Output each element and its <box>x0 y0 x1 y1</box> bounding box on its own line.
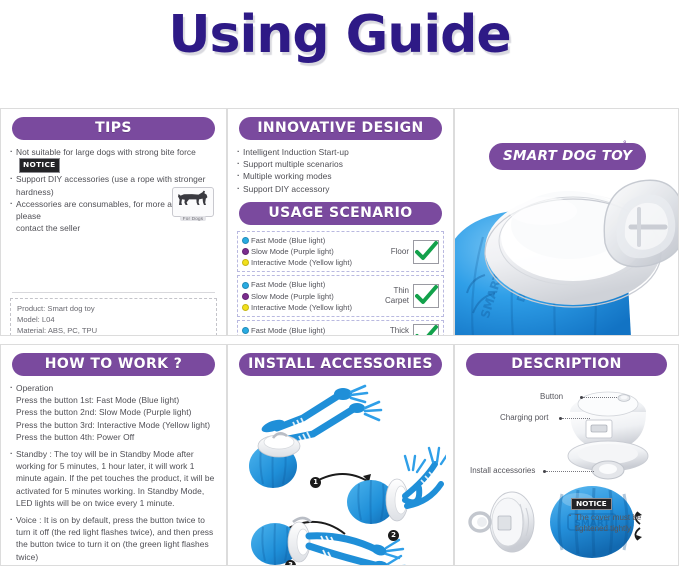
tips-bullet-text: Not suitable for large dogs with strong … <box>16 147 196 157</box>
notice-badge: NOTICE <box>571 498 612 510</box>
scenario-mode-list: Fast Mode (Blue light) Interactive Mode … <box>242 325 371 336</box>
step-number-2: 2 <box>388 530 399 541</box>
product-photo: SMART DOG TOY <box>455 167 679 336</box>
spec-row-product: Product: Smart dog toy <box>17 303 210 314</box>
page-title: Using Guide <box>0 0 679 108</box>
description-notice: NOTICE The cover must be tightened tight… <box>571 493 663 534</box>
spec-value-model: L04 <box>42 315 55 324</box>
scenario-checkbox <box>413 284 439 308</box>
mode-label: Interactive Mode (Yellow light) <box>251 302 352 313</box>
registered-mark-icon: ° <box>623 139 627 149</box>
innovative-design-list: Intelligent Induction Start-up Support m… <box>237 146 444 195</box>
scenario-row-thin-carpet: Fast Mode (Blue light) Slow Mode (Purple… <box>237 275 444 317</box>
operation-title: Operation <box>10 382 217 394</box>
scenario-mode-list: Fast Mode (Blue light) Slow Mode (Purple… <box>242 279 371 313</box>
innovative-design-bullet: Support multiple scenarios <box>237 158 444 170</box>
spec-row-material: Material: ABS, PC, TPU <box>17 325 210 336</box>
step-1-group <box>249 386 381 488</box>
tips-bullet: Not suitable for large dogs with strong … <box>10 146 217 173</box>
scenario-row-thick-carpet: Fast Mode (Blue light) Interactive Mode … <box>237 320 444 336</box>
check-icon <box>415 241 439 263</box>
surface-line-1: Thick <box>371 326 409 336</box>
leader-line-button <box>583 397 617 398</box>
scenario-mode: Slow Mode (Purple light) <box>242 246 371 257</box>
install-accessories-panel: INSTALL ACCESSORIES <box>227 344 454 566</box>
spec-value-product: Smart dog toy <box>47 304 94 313</box>
operation-block: Operation Press the button 1st: Fast Mod… <box>10 382 217 443</box>
scenario-checkbox <box>413 324 439 336</box>
leader-line-install-accessories <box>546 471 594 472</box>
dog-silhouette-icon <box>176 190 210 207</box>
install-steps-illustration <box>237 382 446 566</box>
spec-label-material: Material: <box>17 326 46 335</box>
panel-row-top: TIPS Not suitable for large dogs with st… <box>0 108 679 336</box>
description-diagram: SMART Button Charging port <box>464 382 669 566</box>
usage-scenario-header: USAGE SCENARIO <box>239 202 442 225</box>
mode-dot-purple <box>242 248 249 255</box>
operation-line: Press the button 1st: Fast Mode (Blue li… <box>10 394 217 406</box>
mode-dot-purple <box>242 293 249 300</box>
scenario-surface-label: Floor <box>371 247 409 257</box>
install-accessories-diagram: 1 2 3 <box>237 382 444 566</box>
mode-label: Fast Mode (Blue light) <box>251 279 325 290</box>
spec-label-product: Product: <box>17 304 45 313</box>
check-icon <box>415 325 439 336</box>
row-spacer <box>0 336 679 344</box>
operation-line: Press the button 4th: Power Off <box>10 431 217 443</box>
scenario-surface-label: Thick Carpet <box>371 326 409 336</box>
install-accessories-header: INSTALL ACCESSORIES <box>239 353 442 376</box>
voice-text: Voice : It is on by default, press the b… <box>10 514 217 563</box>
callout-charging-port: Charging port <box>500 413 548 422</box>
innovative-design-header: INNOVATIVE DESIGN <box>239 117 442 140</box>
how-to-work-header: HOW TO WORK ? <box>12 353 215 376</box>
product-spec-box: Product: Smart dog toy Model: L04 Materi… <box>10 298 217 336</box>
tips-panel: TIPS Not suitable for large dogs with st… <box>0 108 227 336</box>
product-photo-illustration: SMART DOG TOY <box>455 167 679 336</box>
mode-label: Fast Mode (Blue light) <box>251 325 325 336</box>
scenario-row-floor: Fast Mode (Blue light) Slow Mode (Purple… <box>237 231 444 273</box>
step-number-3: 3 <box>285 560 296 566</box>
leader-line-charging-port <box>562 418 590 419</box>
scenario-mode: Fast Mode (Blue light) <box>242 325 371 336</box>
mode-label: Interactive Mode (Yellow light) <box>251 257 352 268</box>
description-header: DESCRIPTION <box>466 353 667 376</box>
innovative-design-panel: INNOVATIVE DESIGN Intelligent Induction … <box>227 108 454 336</box>
mode-label: Slow Mode (Purple light) <box>251 246 334 257</box>
step-2-group <box>347 448 446 524</box>
operation-line: Press the button 2nd: Slow Mode (Purple … <box>10 406 217 418</box>
scenario-mode: Interactive Mode (Yellow light) <box>242 302 371 313</box>
scenario-mode-list: Fast Mode (Blue light) Slow Mode (Purple… <box>242 235 371 269</box>
spec-label-model: Model: <box>17 315 40 324</box>
hero-panel: SMART DOG TOY ° <box>454 108 679 336</box>
mode-label: Slow Mode (Purple light) <box>251 291 334 302</box>
scenario-mode: Fast Mode (Blue light) <box>242 235 371 246</box>
scenario-checkbox <box>413 240 439 264</box>
for-dogs-label: For Dogs <box>180 216 207 221</box>
innovative-design-bullet: Multiple working modes <box>237 170 444 182</box>
surface-line-1: Thin <box>371 286 409 296</box>
callout-install-accessories: Install accessories <box>470 466 535 475</box>
scenario-mode: Fast Mode (Blue light) <box>242 279 371 290</box>
description-panel: DESCRIPTION <box>454 344 679 566</box>
notice-badge: NOTICE <box>19 158 60 173</box>
scenario-surface-label: Thin Carpet <box>371 286 409 306</box>
how-to-work-panel: HOW TO WORK ? Operation Press the button… <box>0 344 227 566</box>
innovative-design-bullet: Intelligent Induction Start-up <box>237 146 444 158</box>
how-to-work-body: Operation Press the button 1st: Fast Mod… <box>10 382 217 566</box>
mode-dot-blue <box>242 237 249 244</box>
operation-line: Press the button 3rd: Interactive Mode (… <box>10 419 217 431</box>
check-icon <box>415 285 439 307</box>
step-number-1: 1 <box>310 477 321 488</box>
tips-header: TIPS <box>12 117 215 140</box>
mode-dot-yellow <box>242 259 249 266</box>
standby-text: Standby : The toy will be in Standby Mod… <box>10 448 217 509</box>
scenario-mode: Interactive Mode (Yellow light) <box>242 257 371 268</box>
innovative-design-bullet: Support DIY accessory <box>237 183 444 195</box>
mode-label: Fast Mode (Blue light) <box>251 235 325 246</box>
spec-row-model: Model: L04 <box>17 314 210 325</box>
surface-line-2: Carpet <box>371 296 409 306</box>
mode-dot-blue <box>242 282 249 289</box>
notice-text: The cover must be tightened tightly <box>571 512 663 534</box>
mode-dot-yellow <box>242 304 249 311</box>
mode-dot-blue <box>242 327 249 334</box>
callout-button: Button <box>540 392 563 401</box>
spec-value-material: ABS, PC, TPU <box>48 326 97 335</box>
tips-divider <box>12 292 215 293</box>
scenario-mode: Slow Mode (Purple light) <box>242 291 371 302</box>
for-dogs-icon: For Dogs <box>172 187 214 217</box>
panel-row-bottom: HOW TO WORK ? Operation Press the button… <box>0 344 679 566</box>
